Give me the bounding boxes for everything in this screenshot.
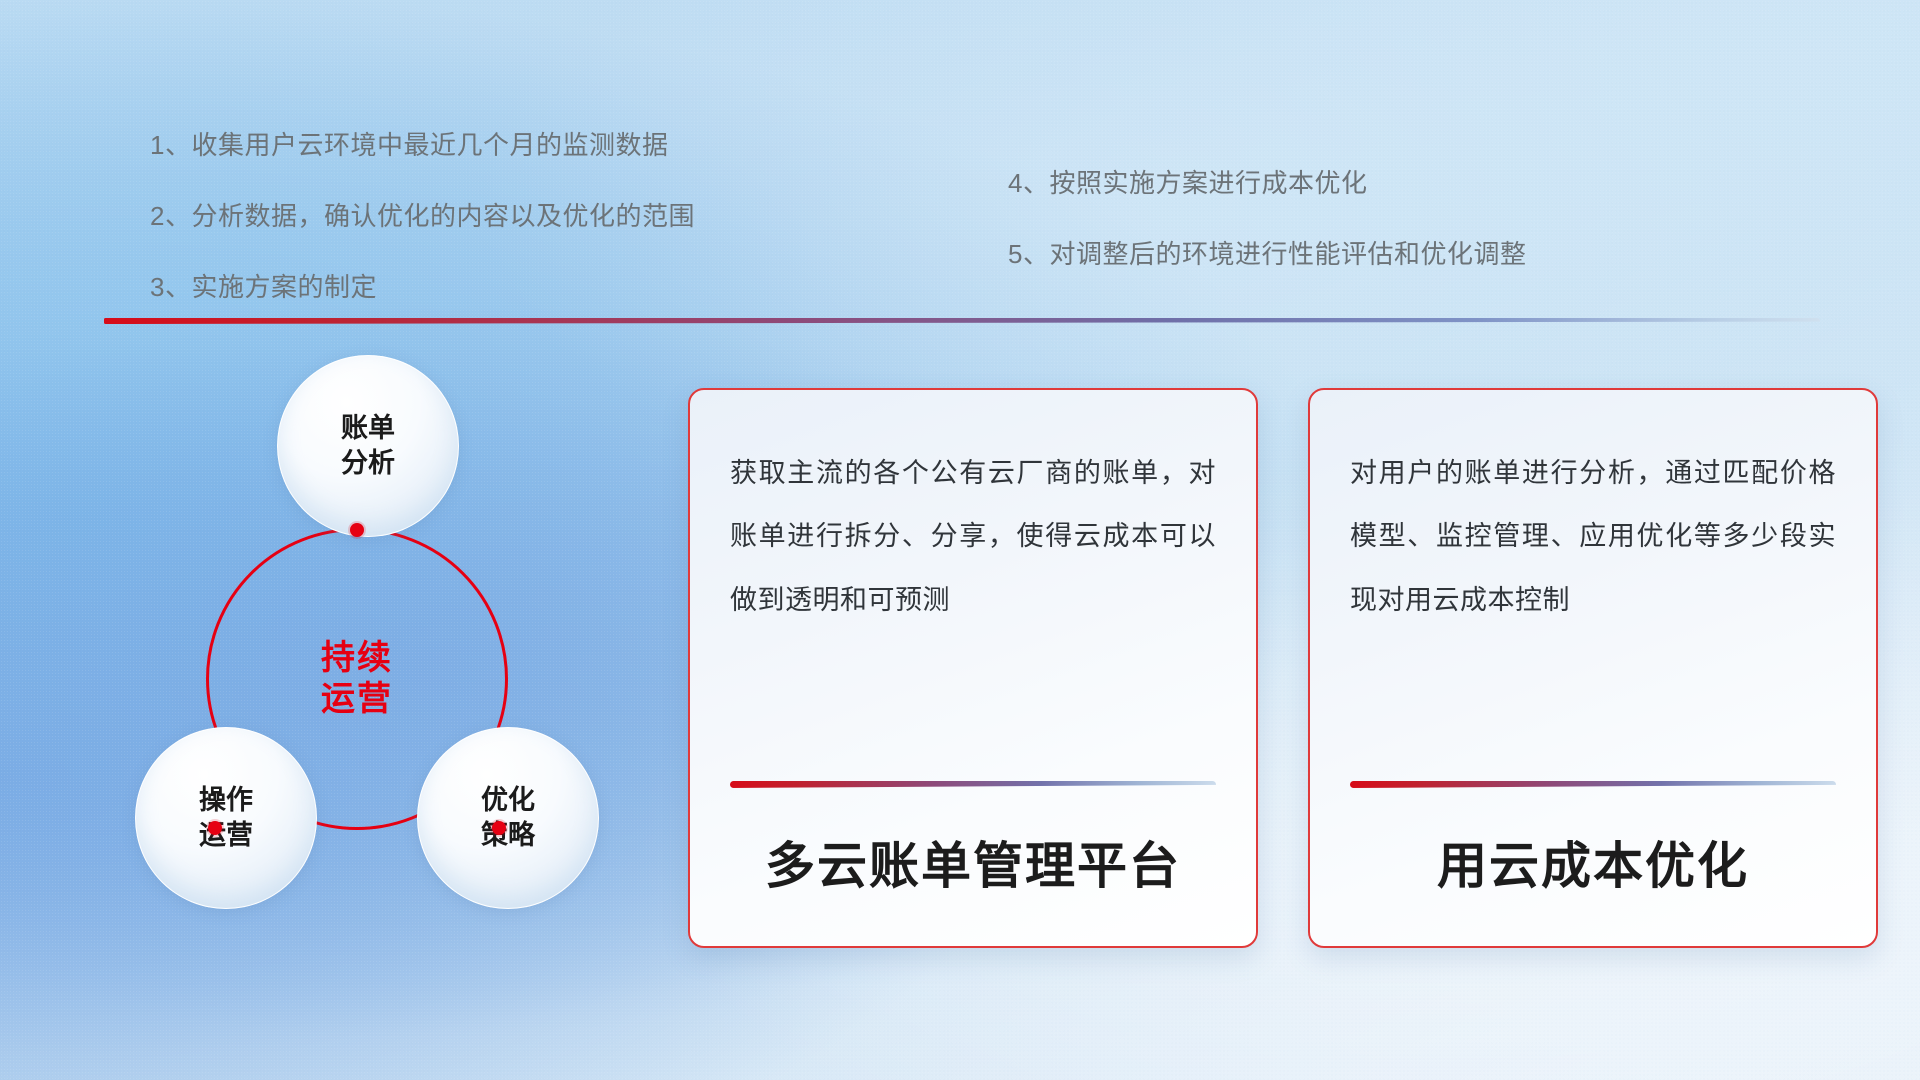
- card-divider-rule: [1350, 781, 1836, 788]
- center-label-line-2: 运营: [321, 679, 393, 720]
- node-label-line-1: 操作: [199, 783, 253, 818]
- step-item-5: 5、对调整后的环境进行性能评估和优化调整: [1008, 234, 1526, 271]
- connector-dot-bottom-left: [208, 821, 222, 835]
- steps-list-left: 1、收集用户云环境中最近几个月的监测数据 2、分析数据，确认优化的内容以及优化的…: [150, 125, 695, 338]
- feature-card-bill-platform[interactable]: 获取主流的各个公有云厂商的账单，对账单进行拆分、分享，使得云成本可以做到透明和可…: [688, 388, 1258, 948]
- node-label-line-2: 策略: [481, 818, 535, 853]
- diagram-node-operations[interactable]: 操作 运营: [135, 727, 317, 909]
- card-title: 多云账单管理平台: [730, 826, 1216, 898]
- node-label-line-2: 运营: [199, 818, 253, 853]
- step-item-1: 1、收集用户云环境中最近几个月的监测数据: [150, 125, 695, 162]
- steps-list-right: 4、按照实施方案进行成本优化 5、对调整后的环境进行性能评估和优化调整: [1008, 163, 1526, 305]
- card-title: 用云成本优化: [1350, 826, 1836, 898]
- connector-dot-bottom-right: [492, 821, 506, 835]
- node-label-line-2: 分析: [341, 446, 395, 481]
- step-item-2: 2、分析数据，确认优化的内容以及优化的范围: [150, 196, 695, 233]
- feature-card-cost-optimization[interactable]: 对用户的账单进行分析，通过匹配价格模型、监控管理、应用优化等多少段实现对用云成本…: [1308, 388, 1878, 948]
- card-body-text: 获取主流的各个公有云厂商的账单，对账单进行拆分、分享，使得云成本可以做到透明和可…: [730, 442, 1216, 632]
- node-label-line-1: 账单: [341, 411, 395, 446]
- node-label-line-1: 优化: [481, 783, 535, 818]
- step-item-4: 4、按照实施方案进行成本优化: [1008, 163, 1526, 200]
- center-label-line-1: 持续: [321, 638, 393, 679]
- connector-dot-top: [350, 523, 364, 537]
- card-body-text: 对用户的账单进行分析，通过匹配价格模型、监控管理、应用优化等多少段实现对用云成本…: [1350, 442, 1836, 632]
- venn-diagram: 持续 运营 账单 分析 操作 运营 优化 策略: [95, 355, 655, 945]
- diagram-node-optimization-strategy[interactable]: 优化 策略: [417, 727, 599, 909]
- step-item-3: 3、实施方案的制定: [150, 267, 695, 304]
- diagram-node-bill-analysis[interactable]: 账单 分析: [277, 355, 459, 537]
- card-divider-rule: [730, 781, 1216, 788]
